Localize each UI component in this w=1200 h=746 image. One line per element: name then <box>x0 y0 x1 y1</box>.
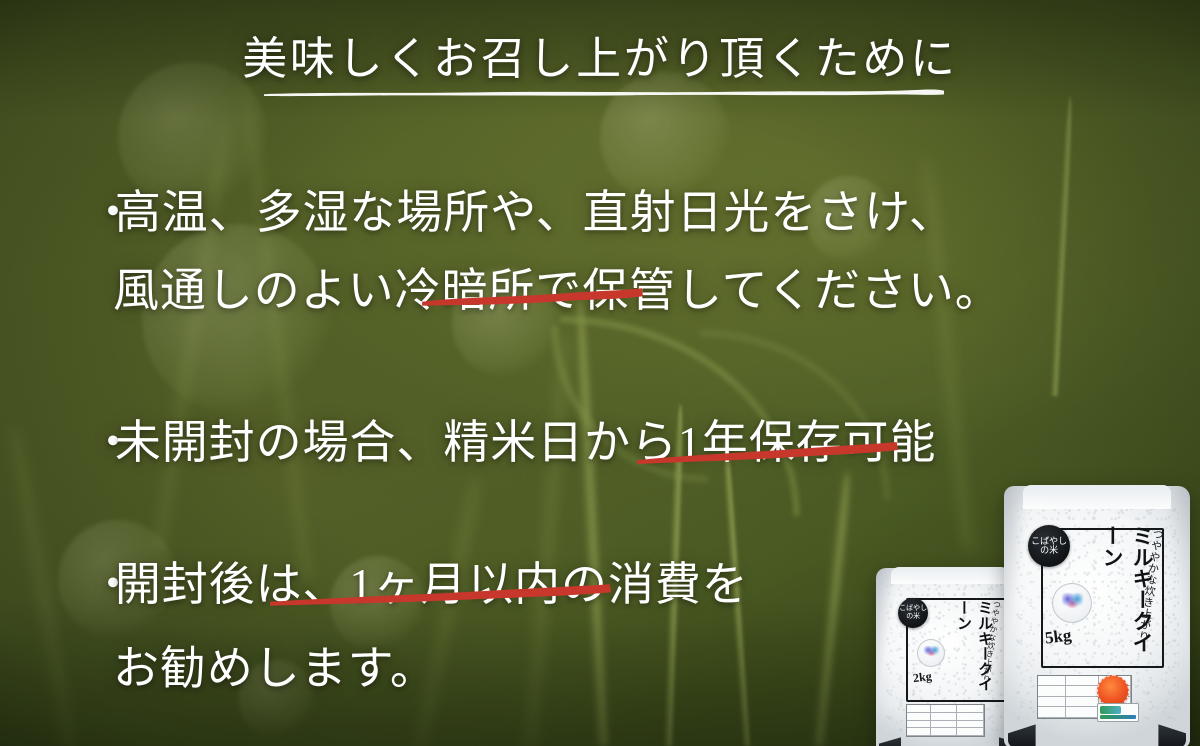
bullet-dot-icon: ・ <box>90 176 113 242</box>
rice-bag-2kg: こばやしの米 ミルキークイーン つややかな炊き上がり 2kg <box>876 568 1024 746</box>
list-item-continuation: 風通しのよい冷暗所で保管してください。 <box>113 254 1002 320</box>
list-item-text: 高温、多湿な場所や、直射日光をさけ、 <box>115 187 956 238</box>
list-item: ・高温、多湿な場所や、直射日光をさけ、 <box>90 176 956 242</box>
table-cell <box>1066 676 1099 686</box>
quality-seal-icon <box>1097 675 1129 707</box>
eco-mark-icon <box>1097 703 1139 722</box>
list-item-continuation: お勧めします。 <box>113 632 437 698</box>
bullet-dot-icon: ・ <box>90 406 113 472</box>
table-cell <box>1038 676 1066 686</box>
bullet-dot-icon: ・ <box>90 548 113 614</box>
table-cell <box>1038 686 1066 696</box>
butterfly-icon <box>1062 593 1083 608</box>
product-info-table <box>906 704 985 738</box>
table-cell <box>957 713 983 721</box>
table-cell <box>1066 707 1099 717</box>
bag-weight-label: 5kg <box>1044 626 1073 649</box>
list-item: ・開封後は、1ヶ月以内の消費を <box>90 548 749 614</box>
table-cell <box>931 728 957 736</box>
list-item-text: 未開封の場合、精米日から1年保存可能 <box>115 417 937 468</box>
list-item: ・未開封の場合、精米日から1年保存可能 <box>90 406 936 472</box>
table-cell <box>957 705 983 713</box>
table-cell <box>931 713 957 721</box>
bag-weight-label: 2kg <box>912 669 932 686</box>
table-cell <box>931 705 957 713</box>
list-item-text: 開封後は、1ヶ月以内の消費を <box>115 559 749 610</box>
brand-badge-label: こばやしの米 <box>1028 537 1070 556</box>
butterfly-icon <box>924 646 939 656</box>
promo-sticker <box>917 639 945 667</box>
brand-badge-label: こばやしの米 <box>898 605 928 620</box>
table-cell <box>907 705 932 713</box>
rice-bag-5kg: こばやしの米 ミルキークイーン つややかな炊き上がり 5kg <box>1004 486 1190 746</box>
table-cell <box>957 728 983 736</box>
table-cell <box>1038 697 1066 707</box>
table-cell <box>907 721 932 729</box>
table-cell <box>931 721 957 729</box>
table-cell <box>957 721 983 729</box>
table-cell <box>1066 686 1099 696</box>
promo-banner: 美味しくお召し上がり頂くために ・高温、多湿な場所や、直射日光をさけ、 風通しの… <box>0 0 1200 746</box>
table-cell <box>1066 697 1099 707</box>
table-cell <box>907 713 932 721</box>
brand-badge-circle: こばやしの米 <box>898 598 928 628</box>
eco-mark-bottom <box>1100 715 1135 719</box>
table-cell <box>1038 707 1066 717</box>
eco-mark-top <box>1100 706 1121 714</box>
table-cell <box>907 728 932 736</box>
